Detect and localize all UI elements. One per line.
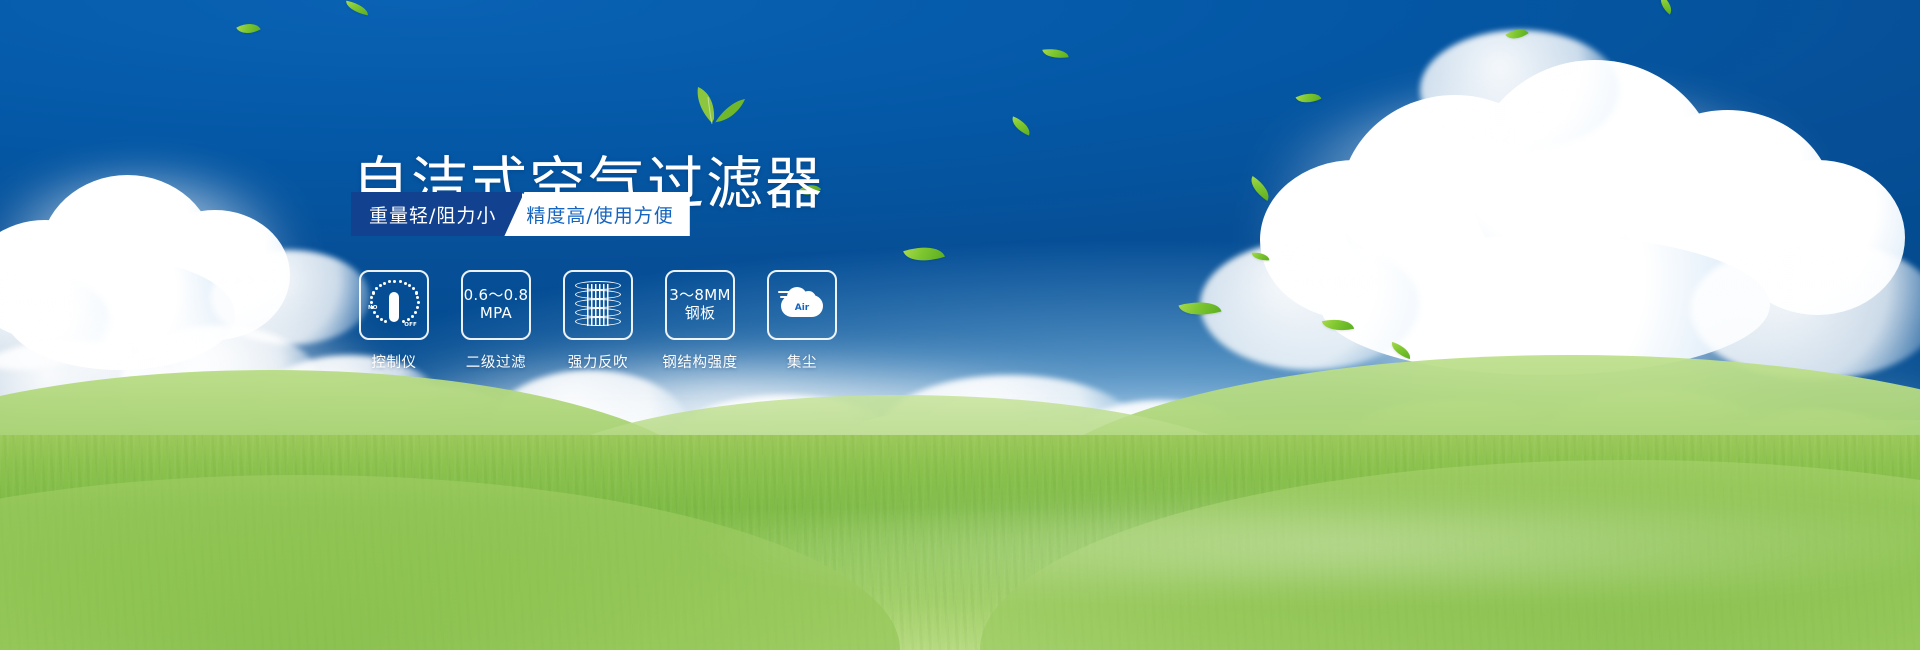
gauge-min-label: NO [368, 305, 378, 311]
feature-box: 3～8MM 钢板 [665, 270, 735, 340]
feature-label: 钢结构强度 [662, 351, 738, 372]
feature-label: 强力反吹 [568, 351, 628, 372]
feature-item-steel[interactable]: 3～8MM 钢板 钢结构强度 [664, 270, 736, 372]
feature-label: 集尘 [787, 351, 817, 372]
subtitle-ribbon: 重量轻/阻力小 精度高/使用方便 [351, 192, 690, 236]
feature-label: 二级过滤 [466, 351, 526, 372]
pressure-unit: MPA [480, 305, 512, 323]
coil-blowback-icon [575, 281, 621, 329]
banner-content: 自洁式空气过滤器 重量轻/阻力小 精度高/使用方便 [0, 0, 1920, 650]
feature-item-controller[interactable]: NO OFF 控制仪 [358, 270, 430, 372]
pressure-value: 0.6～0.8 [464, 287, 529, 305]
feature-box [563, 270, 633, 340]
steel-material: 钢板 [685, 305, 716, 323]
feature-box: 0.6～0.8 MPA [461, 270, 531, 340]
gauge-icon: NO OFF [367, 279, 421, 331]
feature-item-filtration[interactable]: 0.6～0.8 MPA 二级过滤 [460, 270, 532, 372]
gauge-max-label: OFF [404, 322, 417, 328]
leaf-icon [682, 85, 746, 125]
feature-box: Air [767, 270, 837, 340]
feature-label: 控制仪 [371, 351, 416, 372]
gauge-needle [389, 292, 399, 322]
subtitle-primary-text: 重量轻/阻力小 [369, 201, 496, 228]
feature-item-dust[interactable]: Air 集尘 [766, 270, 838, 372]
feature-list: NO OFF 控制仪 0.6～0.8 MPA 二级过滤 [358, 270, 838, 372]
product-banner: 自洁式空气过滤器 重量轻/阻力小 精度高/使用方便 [0, 0, 1920, 650]
steel-thickness: 3～8MM [669, 287, 730, 305]
subtitle-secondary-text: 精度高/使用方便 [526, 201, 673, 228]
subtitle-primary-chip: 重量轻/阻力小 [351, 192, 522, 236]
air-label: Air [778, 303, 826, 313]
subtitle-secondary-chip: 精度高/使用方便 [504, 192, 689, 236]
feature-item-blowback[interactable]: 强力反吹 [562, 270, 634, 372]
air-cloud-icon: Air [778, 285, 826, 325]
feature-box: NO OFF [359, 270, 429, 340]
